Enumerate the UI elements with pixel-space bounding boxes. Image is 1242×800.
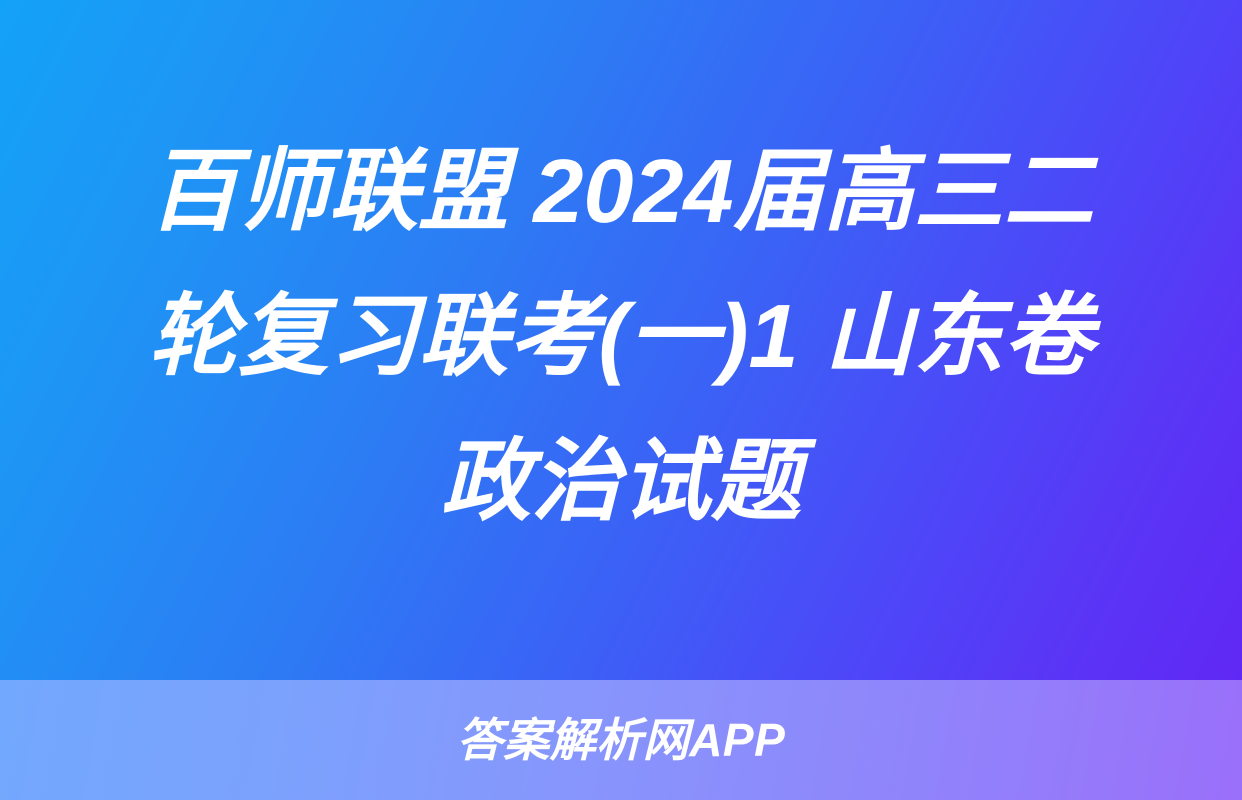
title-line-1: 百师联盟 2024届高三二 <box>61 120 1181 265</box>
page-title: 百师联盟 2024届高三二 轮复习联考(一)1 山东卷 政治试题 <box>61 120 1181 561</box>
watermark-band: 答案解析网APP <box>0 680 1242 800</box>
app-watermark-text: 答案解析网APP <box>457 712 786 768</box>
title-line-2: 轮复习联考(一)1 山东卷 <box>61 265 1181 410</box>
title-line-3: 政治试题 <box>61 410 1181 555</box>
hero-banner: 百师联盟 2024届高三二 轮复习联考(一)1 山东卷 政治试题 <box>0 0 1242 680</box>
poster-card: 百师联盟 2024届高三二 轮复习联考(一)1 山东卷 政治试题 答案解析网AP… <box>0 0 1242 800</box>
